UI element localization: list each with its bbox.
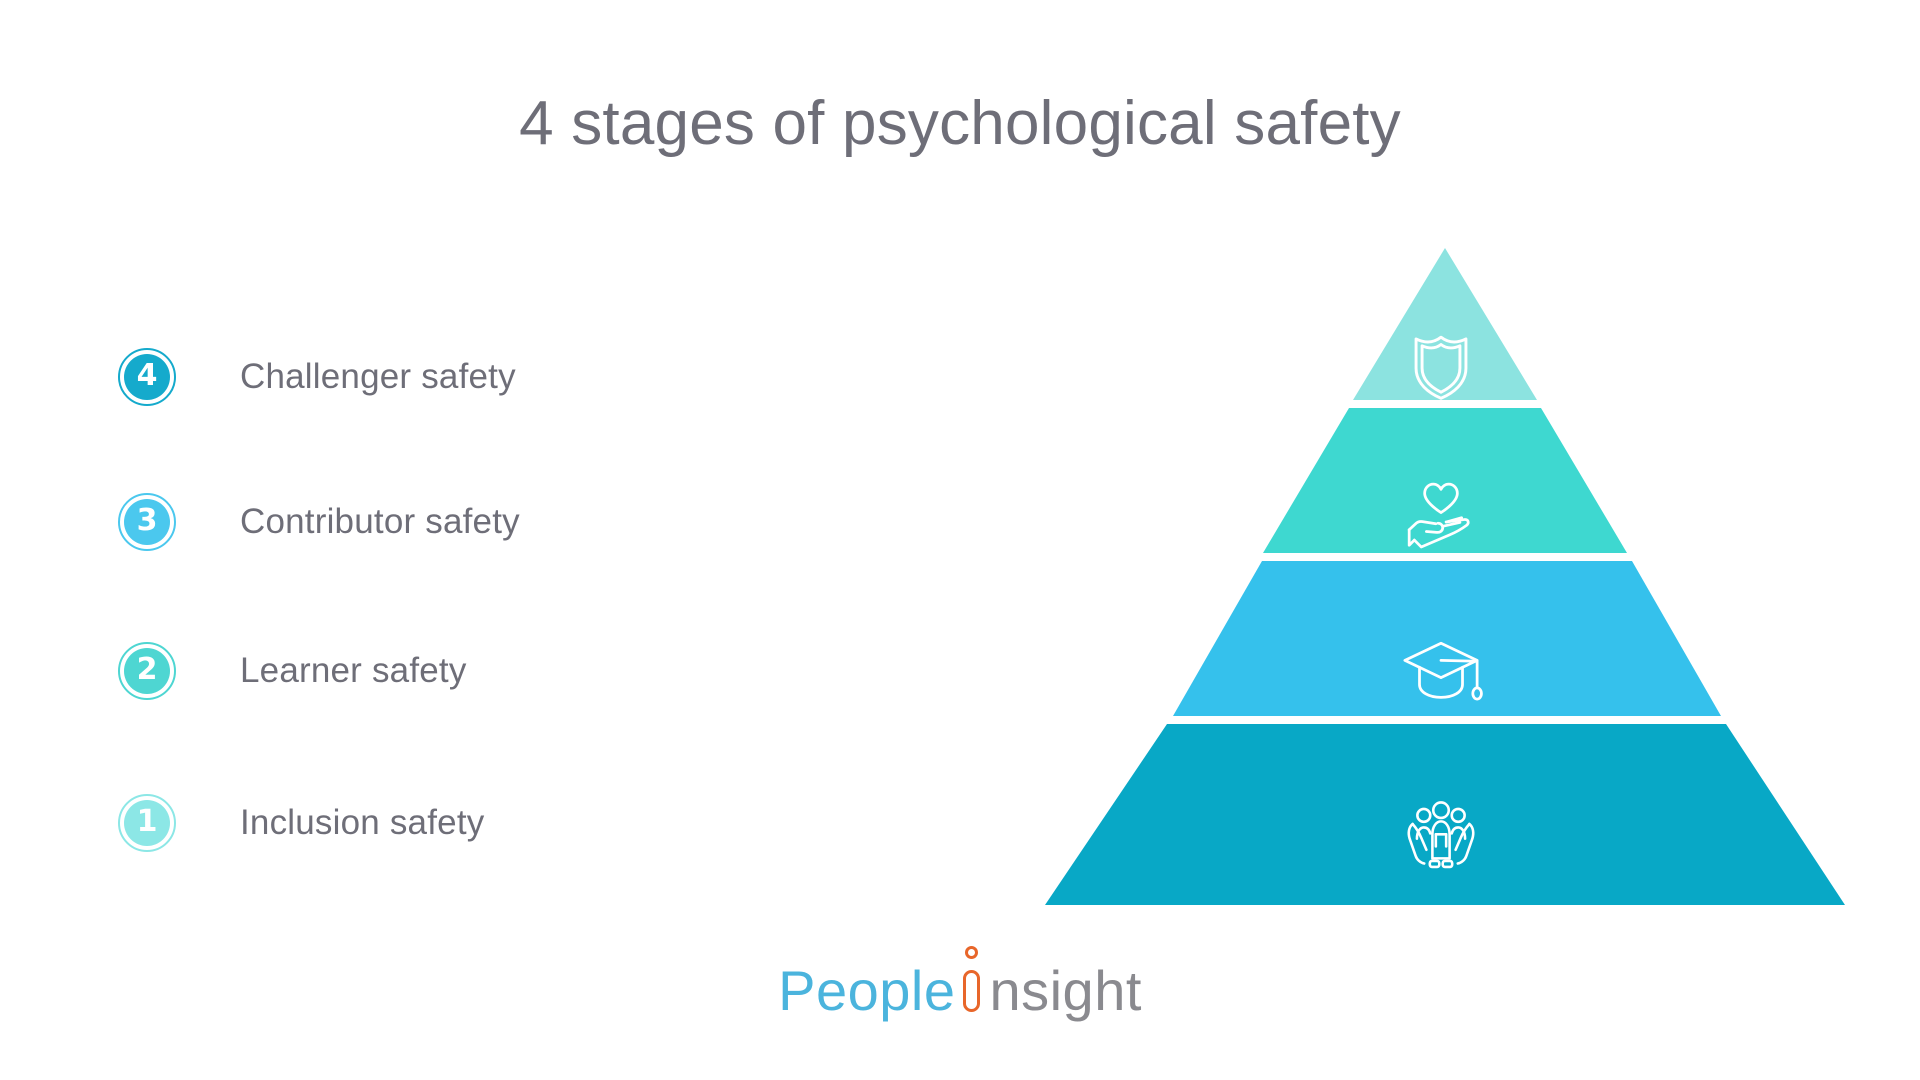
- badge-disc: 2: [124, 648, 170, 694]
- badge-number: 2: [137, 655, 158, 685]
- stage-label-contributor: Contributor safety: [240, 502, 520, 542]
- stage-item-learner[interactable]: 2 Learner safety: [118, 638, 467, 704]
- pyramid-chart: [1030, 248, 1860, 913]
- badge-disc: 4: [124, 354, 170, 400]
- pyramid-tier-inclusion[interactable]: [1045, 724, 1845, 905]
- stage-label-challenger: Challenger safety: [240, 357, 516, 397]
- stage-item-inclusion[interactable]: 1 Inclusion safety: [118, 790, 484, 856]
- badge-disc: 3: [124, 499, 170, 545]
- badge-number: 1: [137, 807, 158, 837]
- stage-badge-4: 4: [118, 348, 176, 406]
- logo-i-stem: [963, 970, 980, 1012]
- logo-people-text: People: [778, 958, 955, 1023]
- stage-badge-2: 2: [118, 642, 176, 700]
- pyramid-svg: [1030, 248, 1860, 913]
- page-title: 4 stages of psychological safety: [0, 88, 1920, 159]
- logo-i-mark: [959, 966, 985, 1012]
- logo-nsight-text: nsight: [989, 958, 1141, 1023]
- badge-number: 3: [137, 506, 158, 536]
- stage-label-inclusion: Inclusion safety: [240, 803, 484, 843]
- stage-label-learner: Learner safety: [240, 651, 467, 691]
- stage-badge-1: 1: [118, 794, 176, 852]
- pyramid-tier-contributor[interactable]: [1263, 408, 1627, 553]
- badge-disc: 1: [124, 800, 170, 846]
- stage-item-challenger[interactable]: 4 Challenger safety: [118, 344, 516, 410]
- pyramid-tier-learner[interactable]: [1173, 561, 1721, 716]
- stage-item-contributor[interactable]: 3 Contributor safety: [118, 489, 520, 555]
- pyramid-tier-challenger[interactable]: [1353, 248, 1537, 400]
- logo-i-dot: [965, 946, 978, 959]
- stage-badge-3: 3: [118, 493, 176, 551]
- peopleinsight-logo: People nsight: [0, 958, 1920, 1023]
- badge-number: 4: [137, 361, 158, 391]
